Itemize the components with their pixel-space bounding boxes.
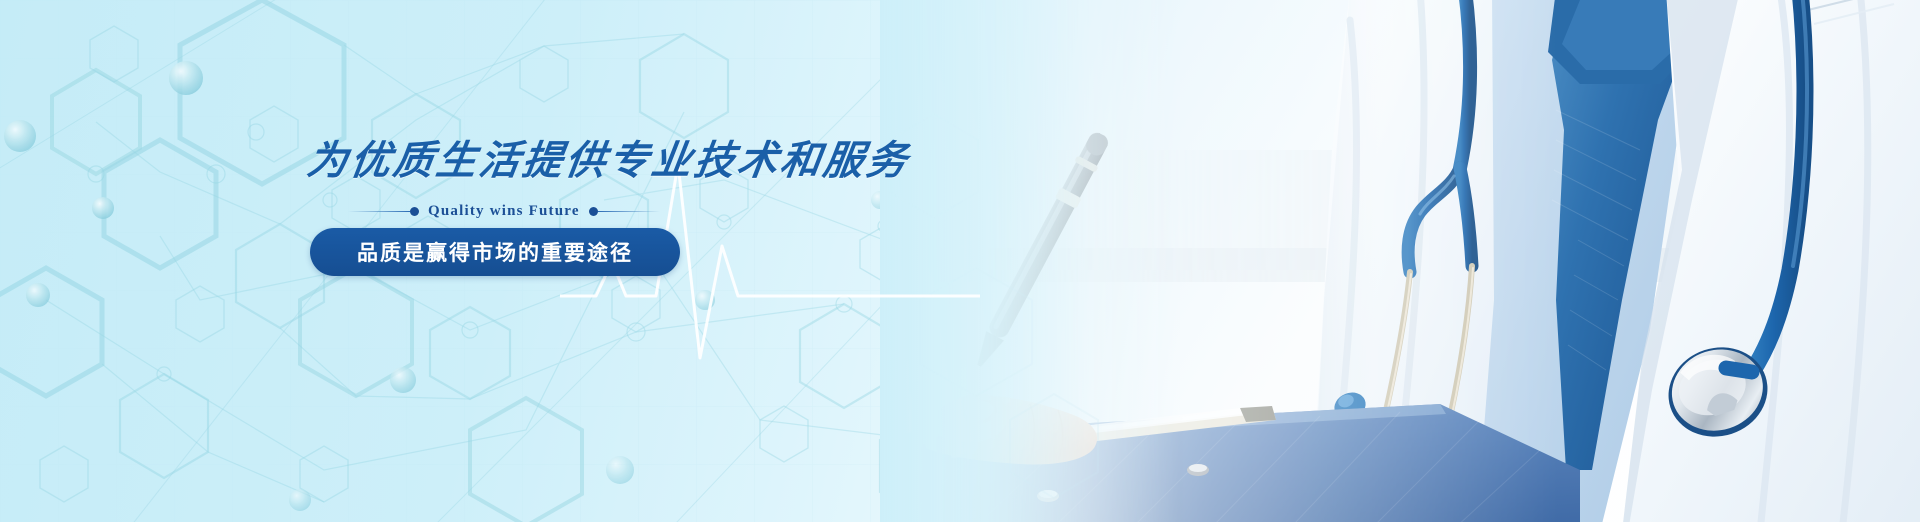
dot-marker-icon [589,207,598,216]
banner-headline: 为优质生活提供专业技术和服务 [304,128,914,186]
slogan-pill-label: 品质是赢得市场的重要途径 [357,237,633,267]
tagline-rule-left [348,211,410,212]
dot-marker-icon [410,207,419,216]
banner-tagline: Quality wins Future [419,203,589,220]
slogan-pill-button[interactable]: 品质是赢得市场的重要途径 [310,228,680,276]
tagline-rule-right [598,211,660,212]
doctor-photo [880,0,1920,522]
banner-content: 为优质生活提供专业技术和服务 Quality wins Future 品质是赢得… [0,0,900,522]
hero-banner: 为优质生活提供专业技术和服务 Quality wins Future 品质是赢得… [0,0,1920,522]
tagline-row: Quality wins Future [348,203,678,220]
